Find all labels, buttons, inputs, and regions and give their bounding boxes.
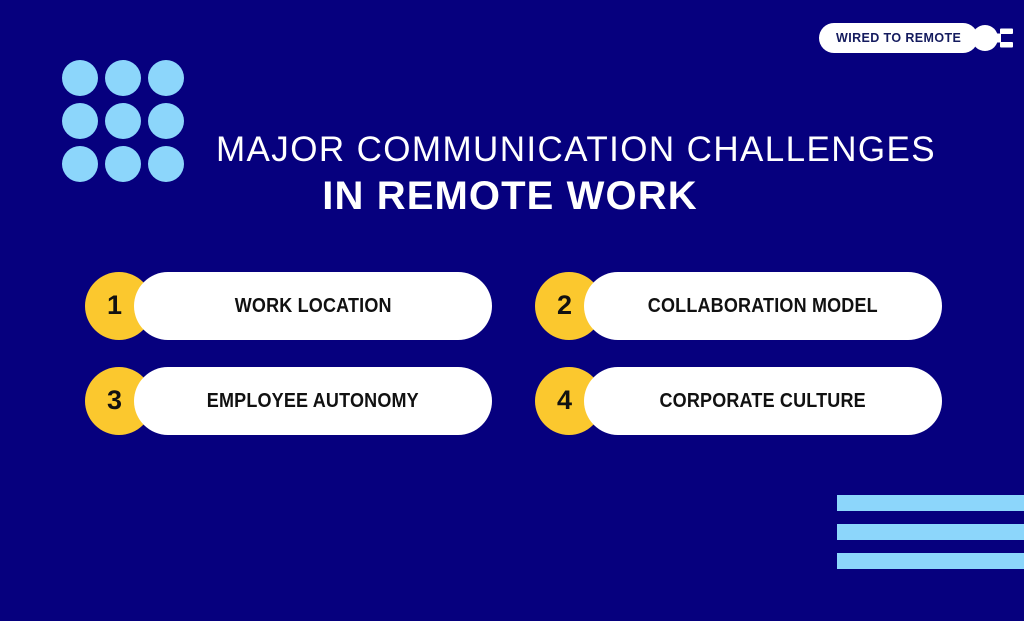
item-label: WORK LOCATION — [235, 296, 392, 316]
item-pill[interactable]: WORK LOCATION — [134, 272, 492, 340]
item-number-label: 4 — [557, 387, 572, 414]
item-pill[interactable]: EMPLOYEE AUTONOMY — [134, 367, 492, 435]
item-number-label: 1 — [107, 292, 122, 319]
infographic-poster: WIRED TO REMOTE MAJOR COMMUNICATION CHAL… — [0, 0, 1024, 621]
item-label: CORPORATE CULTURE — [660, 391, 866, 411]
item-number-label: 2 — [557, 292, 572, 319]
item-number-label: 3 — [107, 387, 122, 414]
list-item[interactable]: 3 EMPLOYEE AUTONOMY — [85, 367, 492, 435]
list-item[interactable]: 1 WORK LOCATION — [85, 272, 492, 340]
bar-stack-decoration — [837, 495, 1024, 569]
item-label: EMPLOYEE AUTONOMY — [207, 391, 419, 411]
list-item[interactable]: 2 COLLABORATION MODEL — [535, 272, 942, 340]
item-pill[interactable]: CORPORATE CULTURE — [584, 367, 942, 435]
decorative-bar — [837, 495, 1024, 511]
item-label: COLLABORATION MODEL — [648, 296, 878, 316]
decorative-bar — [837, 553, 1024, 569]
list-item[interactable]: 4 CORPORATE CULTURE — [535, 367, 942, 435]
item-pill[interactable]: COLLABORATION MODEL — [584, 272, 942, 340]
decorative-bar — [837, 524, 1024, 540]
